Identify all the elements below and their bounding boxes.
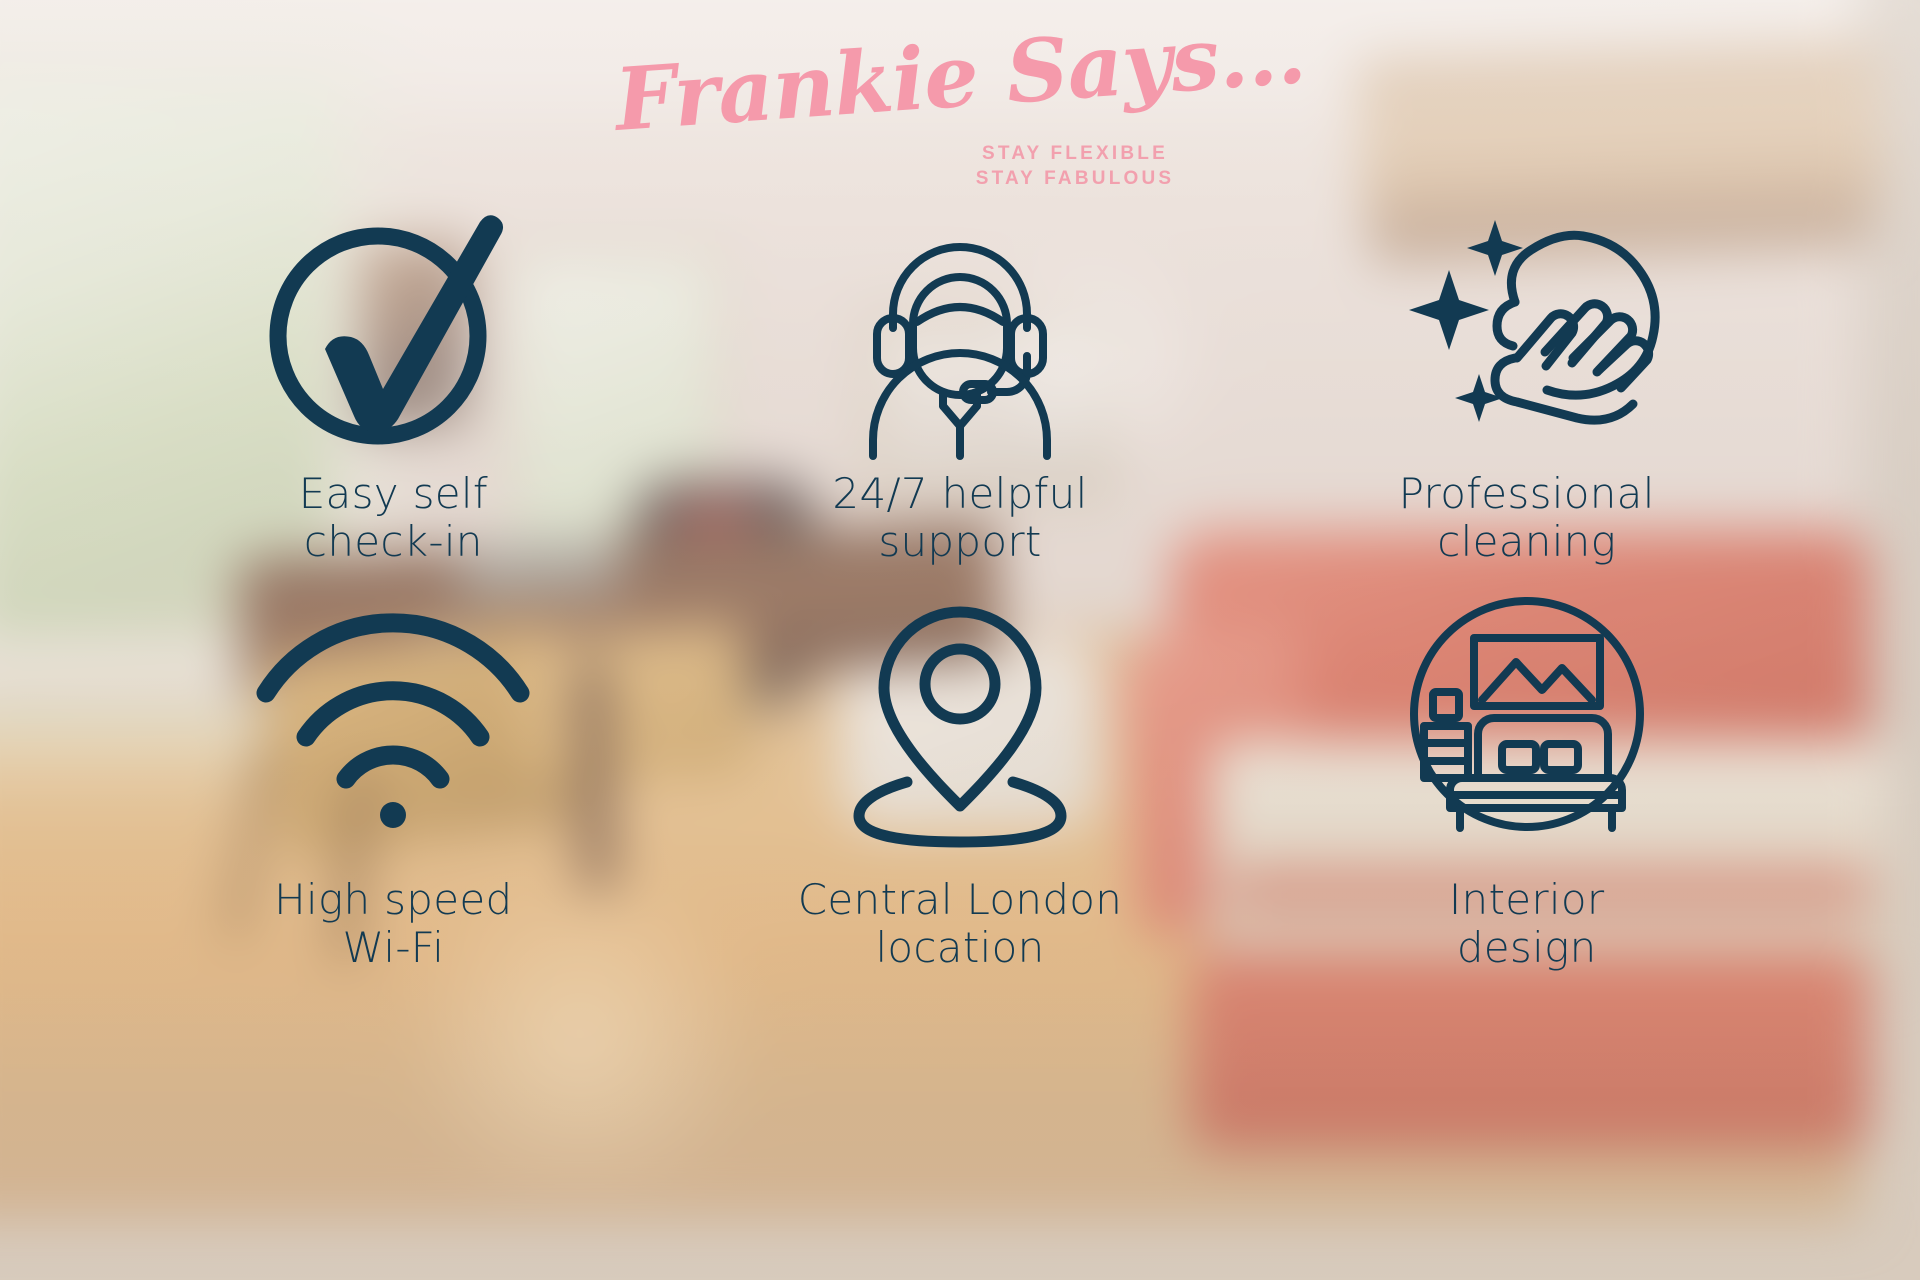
feature-helpful-support: 24/7 helpful support [677,206,1244,586]
feature-label: Professional cleaning [1399,470,1655,566]
wifi-icon [248,586,538,846]
brand-block: Frankie Says... STAY FLEXIBLE STAY FABUL… [0,0,1920,200]
feature-central-london-location: Central London location [677,586,1244,986]
brand-tagline: STAY FLEXIBLE STAY FABULOUS [976,141,1175,192]
features-grid: Easy self check-in [110,206,1810,986]
sparkle-shapes [1409,220,1523,422]
feature-professional-cleaning: Professional cleaning [1243,206,1810,586]
feature-label: Interior design [1449,876,1605,972]
cleaning-hand-sparkle-icon [1387,206,1667,456]
tagline-line-2: STAY FABULOUS [976,166,1175,191]
feature-interior-design: Interior design [1243,586,1810,986]
brand-wordmark: Frankie Says... [612,2,1308,151]
bedroom-interior-icon [1402,586,1652,846]
location-pin-icon [845,586,1075,846]
feature-high-speed-wifi: High speed Wi-Fi [110,586,677,986]
tagline-line-1: STAY FLEXIBLE [976,141,1175,166]
headset-support-icon [835,206,1085,456]
feature-label: High speed Wi-Fi [274,876,512,972]
feature-label: Easy self check-in [299,470,488,566]
feature-label: 24/7 helpful support [832,470,1087,566]
feature-label: Central London location [798,876,1122,972]
feature-easy-self-check-in: Easy self check-in [110,206,677,586]
check-circle-icon [268,206,518,456]
